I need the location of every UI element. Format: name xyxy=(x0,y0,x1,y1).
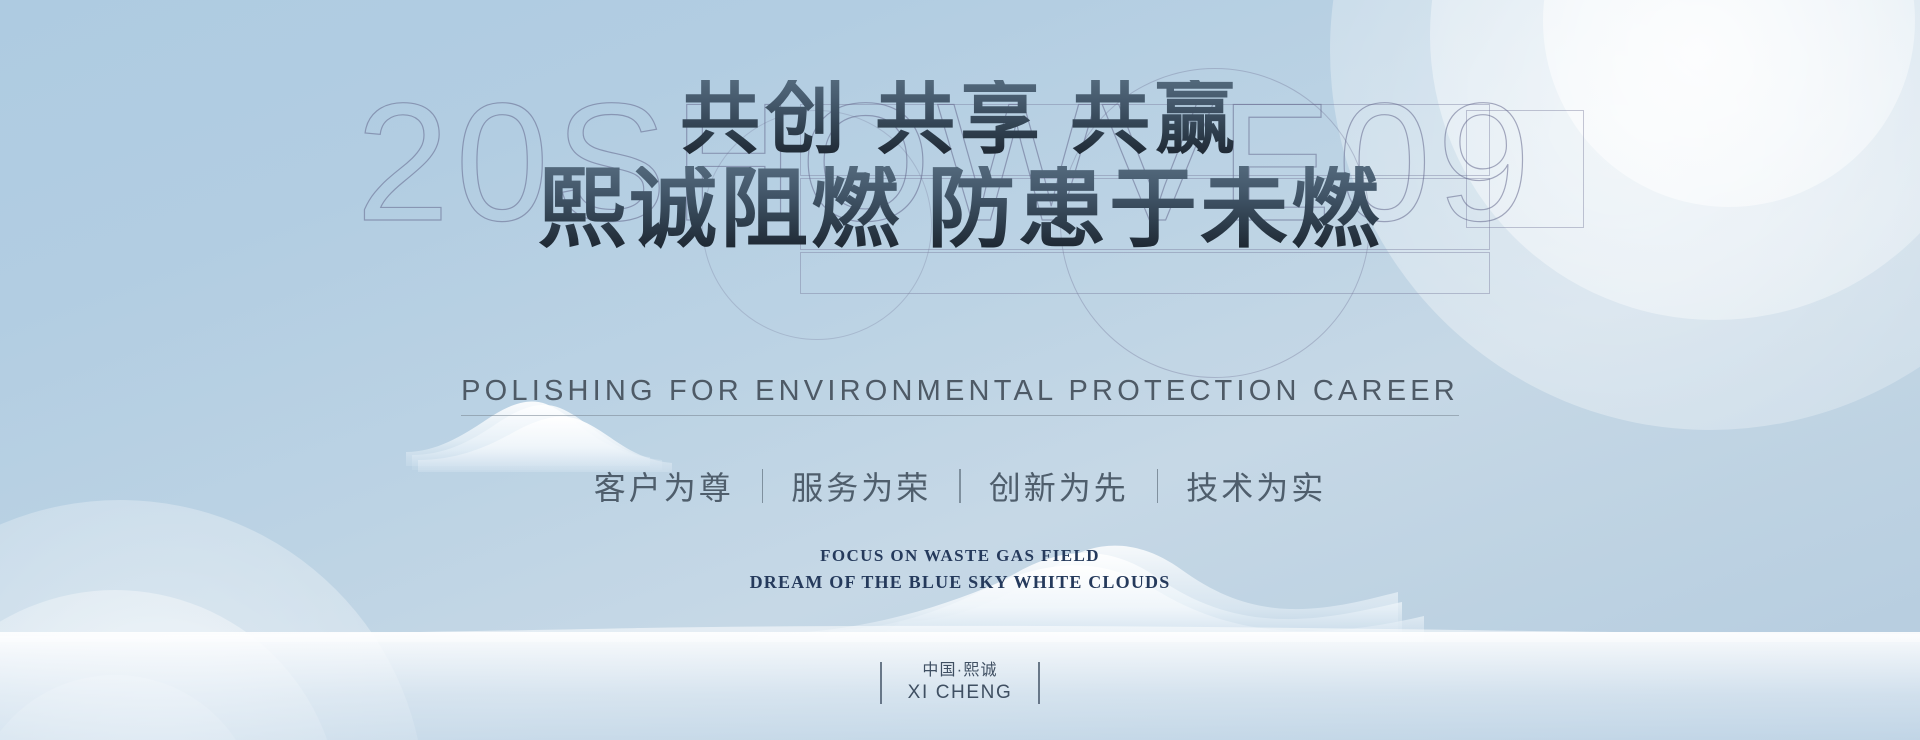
serif-slogan-line-1: FOCUS ON WASTE GAS FIELD xyxy=(0,546,1920,566)
serif-slogan-block: FOCUS ON WASTE GAS FIELD DREAM OF THE BL… xyxy=(0,546,1920,593)
value-phrase-2: 服务为荣 xyxy=(763,463,959,509)
tagline-block: POLISHING FOR ENVIRONMENTAL PROTECTION C… xyxy=(0,375,1920,416)
logo-divider-left xyxy=(880,662,882,704)
serif-slogan-line-2: DREAM OF THE BLUE SKY WHITE CLOUDS xyxy=(0,572,1920,593)
tagline-text: POLISHING FOR ENVIRONMENTAL PROTECTION C… xyxy=(461,375,1459,416)
logo-chinese-name: 中国·熙诚 xyxy=(908,661,1013,681)
footer-logo: 中国·熙诚 XI CHENG xyxy=(0,661,1920,704)
logo-text-wrap: 中国·熙诚 XI CHENG xyxy=(908,661,1013,704)
logo-english-name: XI CHENG xyxy=(908,681,1013,704)
promo-banner: 20SHOWVE09 共创 共享 共赢 熙诚阻燃 防患于未燃 xyxy=(0,0,1920,740)
value-phrase-list: 客户为尊 服务为荣 创新为先 技术为实 xyxy=(0,463,1920,509)
logo-divider-right xyxy=(1038,662,1040,704)
headline-line-1: 共创 共享 共赢 xyxy=(0,80,1920,162)
value-phrase-4: 技术为实 xyxy=(1158,463,1354,509)
headline-block: 共创 共享 共赢 熙诚阻燃 防患于未燃 xyxy=(0,80,1920,255)
headline-line-2: 熙诚阻燃 防患于未燃 xyxy=(0,166,1920,256)
value-phrase-3: 创新为先 xyxy=(961,463,1157,509)
value-phrase-1: 客户为尊 xyxy=(566,463,762,509)
